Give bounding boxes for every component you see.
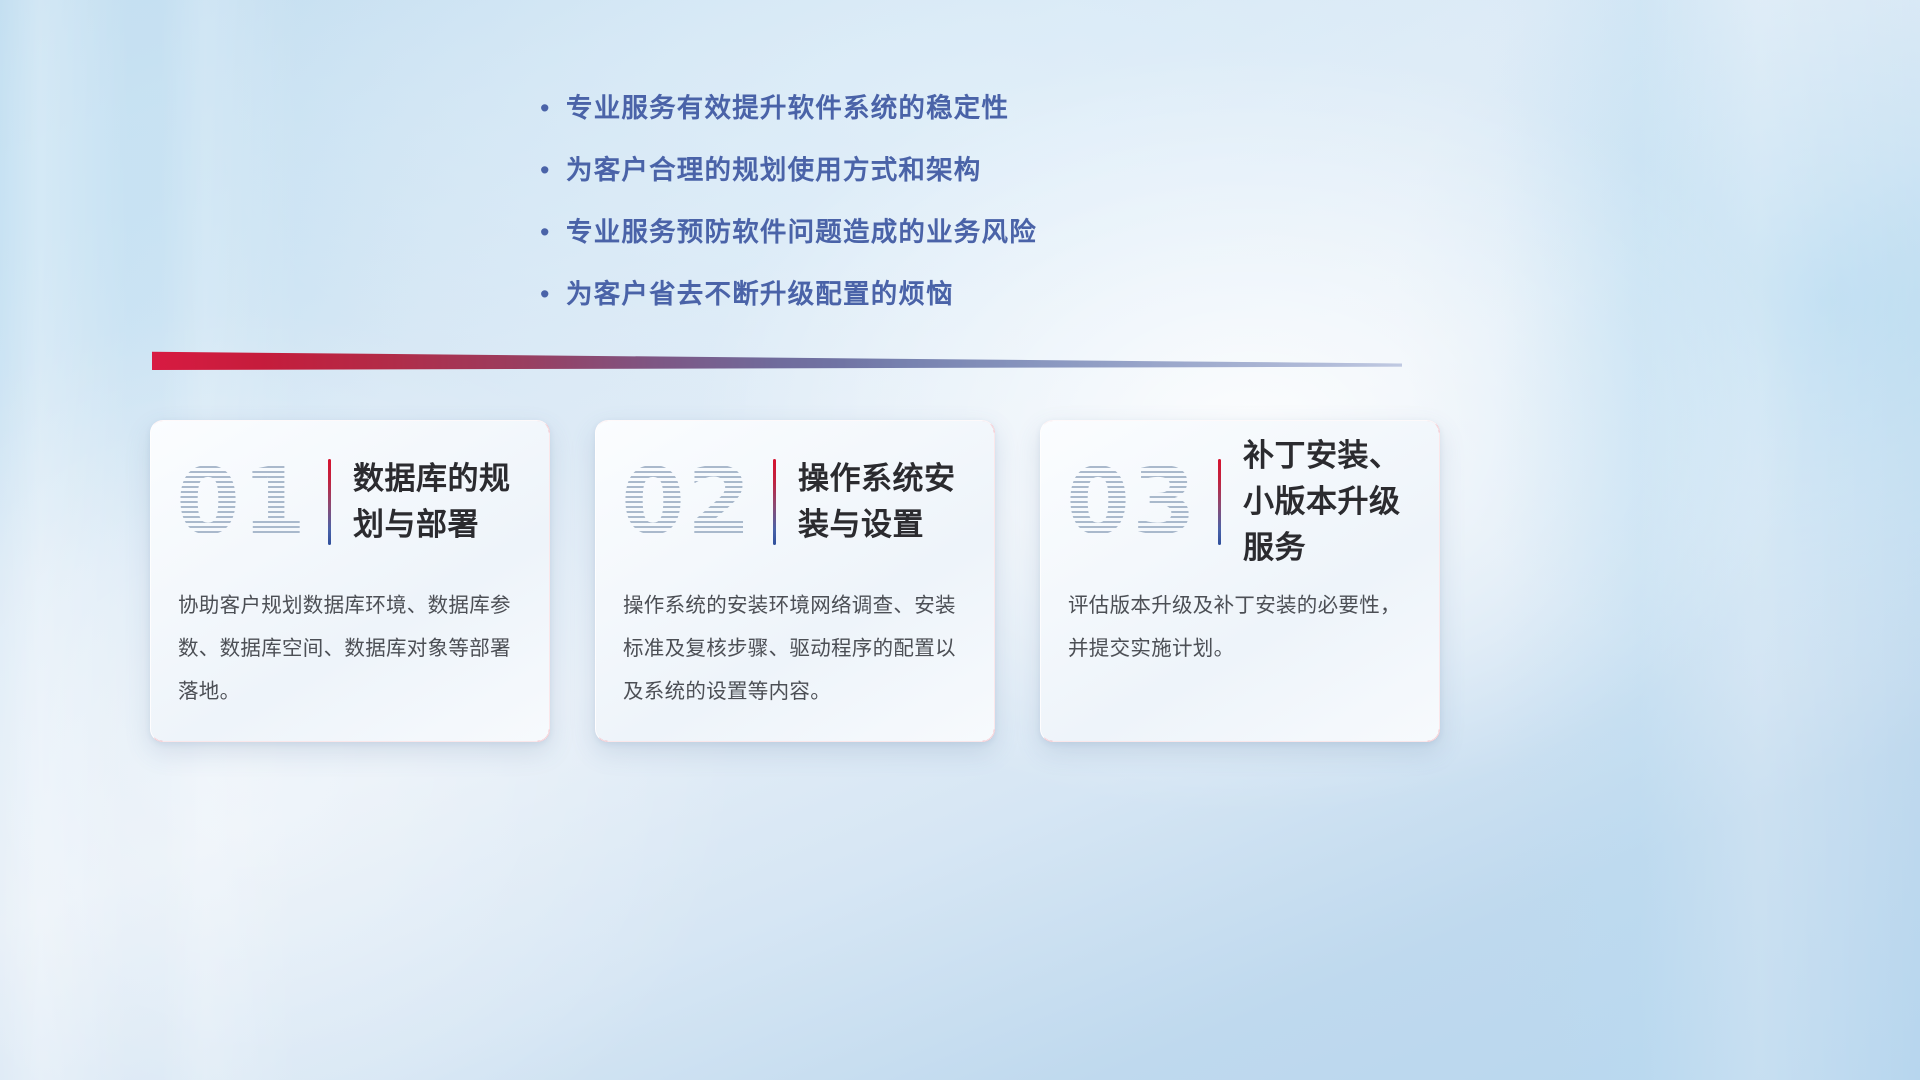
card-number: 02 — [621, 456, 753, 548]
card-divider-icon — [328, 459, 331, 545]
bullet-dot-icon: • — [540, 150, 566, 190]
bullet-text: 专业服务预防软件问题造成的业务风险 — [566, 212, 1037, 252]
gradient-divider — [152, 346, 1402, 370]
card-description: 协助客户规划数据库环境、数据库参数、数据库空间、数据库对象等部署落地。 — [150, 570, 550, 713]
bullet-dot-icon: • — [540, 88, 566, 128]
card-number: 03 — [1066, 456, 1198, 548]
card-header: 03 补丁安装、小版本升级服务 — [1040, 420, 1440, 570]
service-card-02[interactable]: 02 操作系统安装与设置 操作系统的安装环境网络调查、安装标准及复核步骤、驱动程… — [595, 420, 995, 742]
card-divider-icon — [773, 459, 776, 545]
bullet-text: 为客户省去不断升级配置的烦恼 — [566, 274, 954, 314]
slide-canvas: • 专业服务有效提升软件系统的稳定性 • 为客户合理的规划使用方式和架构 • 专… — [0, 0, 1920, 1080]
card-number: 01 — [176, 456, 308, 548]
bullet-list: • 专业服务有效提升软件系统的稳定性 • 为客户合理的规划使用方式和架构 • 专… — [540, 88, 1180, 336]
card-description: 操作系统的安装环境网络调查、安装标准及复核步骤、驱动程序的配置以及系统的设置等内… — [595, 570, 995, 713]
gradient-divider-highlight — [152, 346, 1402, 370]
service-card-03[interactable]: 03 补丁安装、小版本升级服务 评估版本升级及补丁安装的必要性，并提交实施计划。 — [1040, 420, 1440, 742]
card-title: 补丁安装、小版本升级服务 — [1243, 433, 1418, 571]
card-header: 01 数据库的规划与部署 — [150, 420, 550, 570]
bullet-dot-icon: • — [540, 274, 566, 314]
service-card-01[interactable]: 01 数据库的规划与部署 协助客户规划数据库环境、数据库参数、数据库空间、数据库… — [150, 420, 550, 742]
card-header: 02 操作系统安装与设置 — [595, 420, 995, 570]
card-title: 操作系统安装与设置 — [798, 456, 973, 548]
card-title: 数据库的规划与部署 — [353, 456, 528, 548]
bullet-dot-icon: • — [540, 212, 566, 252]
list-item: • 专业服务预防软件问题造成的业务风险 — [540, 212, 1180, 252]
card-row: 01 数据库的规划与部署 协助客户规划数据库环境、数据库参数、数据库空间、数据库… — [150, 420, 1620, 750]
card-divider-icon — [1218, 459, 1221, 545]
list-item: • 专业服务有效提升软件系统的稳定性 — [540, 88, 1180, 128]
bullet-text: 为客户合理的规划使用方式和架构 — [566, 150, 982, 190]
list-item: • 为客户合理的规划使用方式和架构 — [540, 150, 1180, 190]
card-description: 评估版本升级及补丁安装的必要性，并提交实施计划。 — [1040, 570, 1440, 670]
list-item: • 为客户省去不断升级配置的烦恼 — [540, 274, 1180, 314]
bullet-text: 专业服务有效提升软件系统的稳定性 — [566, 88, 1009, 128]
